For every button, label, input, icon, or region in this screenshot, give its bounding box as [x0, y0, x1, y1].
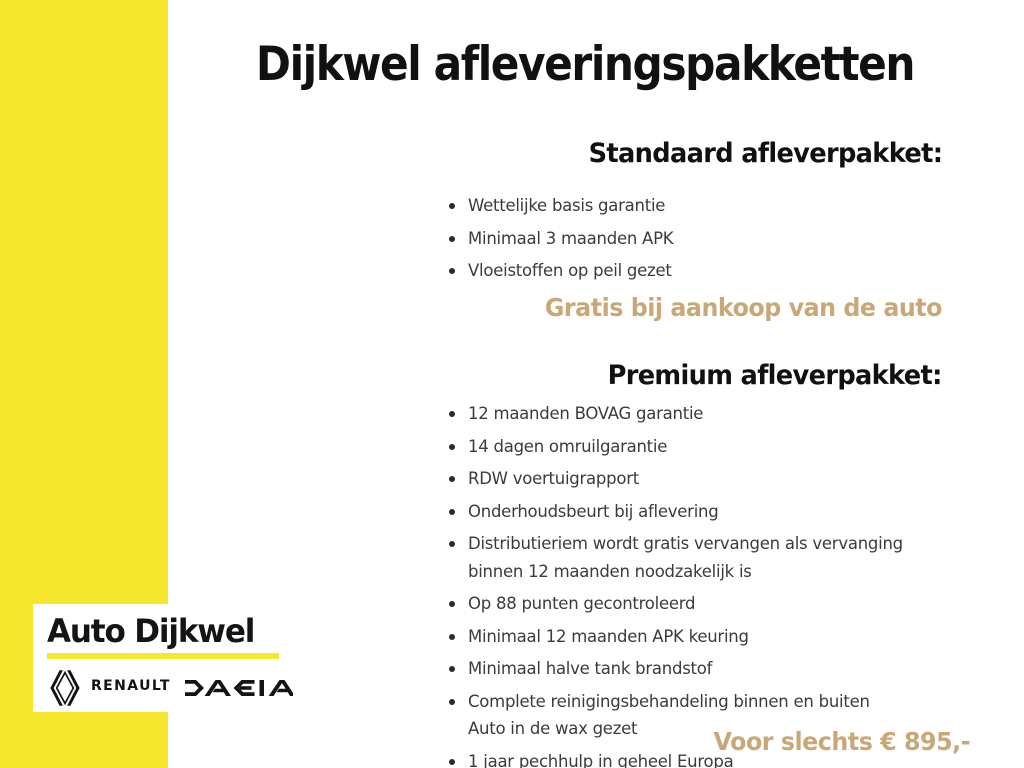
feature-text: Wettelijke basis garantie [468, 196, 665, 215]
list-item: Minimaal 3 maanden APK [449, 225, 979, 253]
feature-text: Minimaal 3 maanden APK [468, 229, 673, 248]
list-item: Distributieriem wordt gratis vervangen a… [449, 530, 979, 585]
list-item: Onderhoudsbeurt bij aflevering [449, 498, 979, 526]
standard-package-feature-list: Wettelijke basis garantie Minimaal 3 maa… [449, 192, 979, 290]
feature-text: Minimaal 12 maanden APK keuring [468, 627, 749, 646]
list-item: Op 88 punten gecontroleerd [449, 590, 979, 618]
standard-package-heading: Standaard afleverpakket: [588, 138, 942, 169]
feature-text: 12 maanden BOVAG garantie [468, 404, 703, 423]
list-item: 14 dagen omruilgarantie [449, 433, 979, 461]
list-item: Wettelijke basis garantie [449, 192, 979, 220]
premium-package-feature-list: 12 maanden BOVAG garantie 14 dagen omrui… [449, 400, 979, 768]
brand-row: RENAULT [43, 666, 293, 710]
feature-text: Complete reinigingsbehandeling binnen en… [468, 692, 870, 711]
renault-diamond-icon [47, 668, 83, 708]
premium-package-heading: Premium afleverpakket: [608, 360, 942, 391]
logo-underline-rule [47, 653, 279, 659]
list-item: 12 maanden BOVAG garantie [449, 400, 979, 428]
feature-text: Vloeistoffen op peil gezet [468, 261, 672, 280]
auto-dijkwel-wordmark: Auto Dijkwel [47, 612, 254, 650]
dacia-wordmark-icon [185, 677, 293, 699]
feature-text: Onderhoudsbeurt bij aflevering [468, 502, 718, 521]
feature-text: Distributieriem wordt gratis vervangen a… [468, 534, 903, 553]
delivery-packages-poster: Dijkwel afleveringspakketten Standaard a… [0, 0, 1024, 768]
feature-text: Op 88 punten gecontroleerd [468, 594, 695, 613]
feature-text: 14 dagen omruilgarantie [468, 437, 667, 456]
feature-text: Minimaal halve tank brandstof [468, 659, 712, 678]
list-item: Vloeistoffen op peil gezet [449, 257, 979, 285]
renault-label: RENAULT [91, 678, 171, 694]
feature-text: 1 jaar pechhulp in geheel Europa [468, 752, 733, 768]
standard-package-tagline: Gratis bij aankoop van de auto [545, 293, 942, 322]
page-title: Dijkwel afleveringspakketten [226, 40, 944, 89]
dealer-logo: Auto Dijkwel RENAULT [33, 604, 293, 712]
feature-text: RDW voertuigrapport [468, 469, 639, 488]
premium-package-price-tagline: Voor slechts € 895,- [713, 727, 970, 756]
list-item: Minimaal halve tank brandstof [449, 655, 979, 683]
list-item: RDW voertuigrapport [449, 465, 979, 493]
feature-text-continuation: binnen 12 maanden noodzakelijk is [468, 558, 979, 586]
list-item: Minimaal 12 maanden APK keuring [449, 623, 979, 651]
content-column: Dijkwel afleveringspakketten Standaard a… [186, 0, 984, 768]
